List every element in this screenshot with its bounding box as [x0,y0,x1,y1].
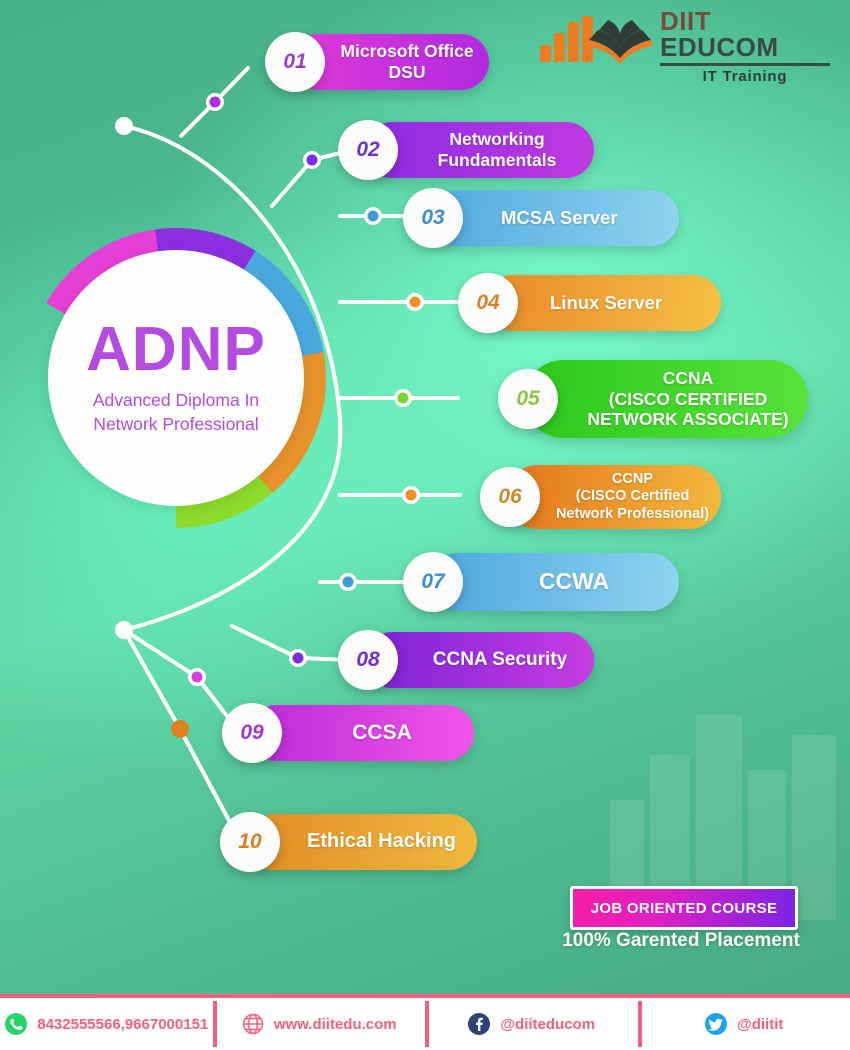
footer-item-facebook[interactable]: @diiteducom [425,998,638,1050]
course-number-badge: 06 [480,467,540,527]
course-row[interactable]: Ethical Hacking10 [220,814,477,870]
program-full-name: Advanced Diploma In Network Professional [79,389,273,436]
course-row[interactable]: CCSA09 [222,705,474,761]
course-number-badge: 01 [265,32,325,92]
logo-divider [660,63,830,66]
course-title: CCNA (CISCO CERTIFIED NETWORK ASSOCIATE) [524,368,808,430]
job-oriented-course-label: JOB ORIENTED COURSE [591,900,778,917]
course-number-badge: 07 [403,552,463,612]
course-number-badge: 05 [498,369,558,429]
placement-guarantee-label: 100% Garented Placement [545,930,817,952]
course-number: 05 [516,387,539,411]
hub-core: ADNP Advanced Diploma In Network Profess… [48,250,304,506]
course-row[interactable]: MCSA Server03 [403,190,679,246]
course-title: Networking Fundamentals [364,129,594,170]
infographic-poster: DIIT EDUCOM IT Training [0,0,850,1050]
course-row[interactable]: Networking Fundamentals02 [338,122,594,178]
open-book-icon [586,14,654,66]
job-oriented-course-badge[interactable]: JOB ORIENTED COURSE [570,886,798,930]
course-number-badge: 04 [458,273,518,333]
course-title: Ethical Hacking [246,830,477,854]
logo-title-educom: EDUCOM [660,32,779,62]
course-pill[interactable]: CCNA (CISCO CERTIFIED NETWORK ASSOCIATE) [524,360,808,438]
program-abbreviation: ADNP [86,319,266,381]
footer-item-website[interactable]: www.diitedu.com [213,998,426,1050]
course-number: 02 [356,138,379,162]
facebook-icon [467,1012,491,1036]
course-pill[interactable]: Networking Fundamentals [364,122,594,178]
course-pill[interactable]: CCWA [429,553,679,611]
footer-facebook-label: @diiteducom [500,1016,595,1033]
globe-icon [241,1012,265,1036]
course-title: Linux Server [484,292,721,314]
course-number: 10 [238,830,261,854]
node-origin-bottom [115,621,133,639]
course-row[interactable]: CCNP (CISCO Certified Network Profession… [480,465,721,529]
node-origin-top [115,117,133,135]
course-number: 09 [240,721,263,745]
footer-phone-label: 8432555566,9667000151 [37,1016,208,1033]
course-number-badge: 02 [338,120,398,180]
twitter-icon [704,1012,728,1036]
course-number: 04 [476,291,499,315]
course-number-badge: 09 [222,703,282,763]
footer-twitter-label: @diitit [737,1016,783,1033]
whatsapp-icon [4,1012,28,1036]
center-hub: ADNP Advanced Diploma In Network Profess… [26,228,326,528]
course-number: 03 [421,206,444,230]
course-number: 01 [283,50,306,74]
logo-wordmark: DIIT EDUCOM IT Training [660,8,835,85]
course-number-badge: 03 [403,188,463,248]
footer-item-twitter[interactable]: @diitit [638,998,850,1050]
course-title: CCWA [429,568,679,595]
course-pill[interactable]: Ethical Hacking [246,814,477,870]
course-title: CCNA Security [364,649,594,671]
course-row[interactable]: CCNA (CISCO CERTIFIED NETWORK ASSOCIATE)… [498,360,808,438]
course-row[interactable]: Linux Server04 [458,275,721,331]
logo-subtitle: IT Training [660,68,830,85]
footer-item-phone[interactable]: 8432555566,9667000151 [0,998,213,1050]
course-number: 06 [498,485,521,509]
brand-logo: DIIT EDUCOM IT Training [534,6,834,68]
course-pill[interactable]: MCSA Server [429,190,679,246]
course-title: MCSA Server [429,207,679,229]
contact-footer: 8432555566,9667000151 www.diitedu.com @d… [0,994,850,1050]
course-pill[interactable]: Linux Server [484,275,721,331]
course-pill[interactable]: CCNA Security [364,632,594,688]
course-number: 07 [421,570,444,594]
course-number: 08 [356,648,379,672]
course-row[interactable]: Microsoft Office DSU01 [265,34,489,90]
program-name-line1: Advanced Diploma In [93,389,259,413]
course-row[interactable]: CCWA07 [403,553,679,611]
footer-website-label: www.diitedu.com [274,1016,397,1033]
course-number-badge: 08 [338,630,398,690]
program-name-line2: Network Professional [93,413,259,437]
course-row[interactable]: CCNA Security08 [338,632,594,688]
course-number-badge: 10 [220,812,280,872]
